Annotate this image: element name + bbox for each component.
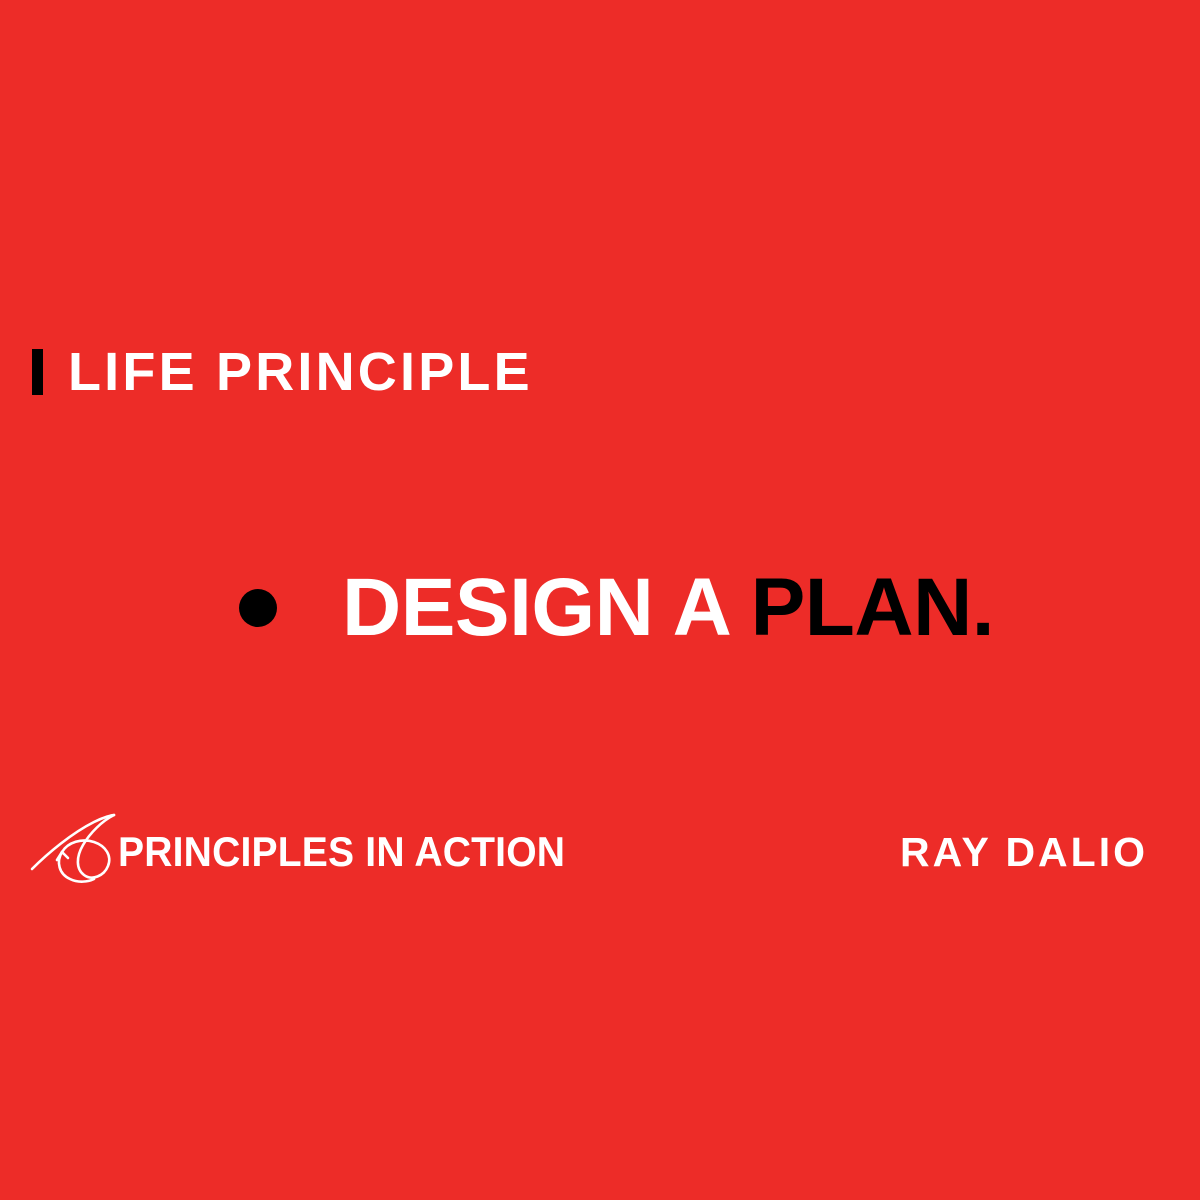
kicker-label: LIFE PRINCIPLE: [68, 349, 533, 395]
author-name: RAY DALIO: [900, 806, 1148, 898]
headline-part-dark: PLAN.: [751, 562, 995, 653]
headline: DESIGN A PLAN.: [239, 560, 994, 656]
principles-spiral-arrow-icon: [30, 813, 116, 891]
principles-quote-card: LIFE PRINCIPLE DESIGN A PLAN.: [0, 0, 1200, 1200]
brand-lockup: PRINCIPLES IN ACTION: [30, 806, 599, 898]
headline-part-light: DESIGN A: [342, 562, 751, 653]
kicker-rule-icon: [32, 349, 43, 395]
brand-name: PRINCIPLES IN ACTION: [118, 806, 565, 898]
footer: PRINCIPLES IN ACTION RAY DALIO: [0, 806, 1200, 898]
headline-text: DESIGN A PLAN.: [342, 560, 994, 656]
kicker: LIFE PRINCIPLE: [32, 344, 533, 400]
bullet-dot-icon: [239, 589, 277, 627]
